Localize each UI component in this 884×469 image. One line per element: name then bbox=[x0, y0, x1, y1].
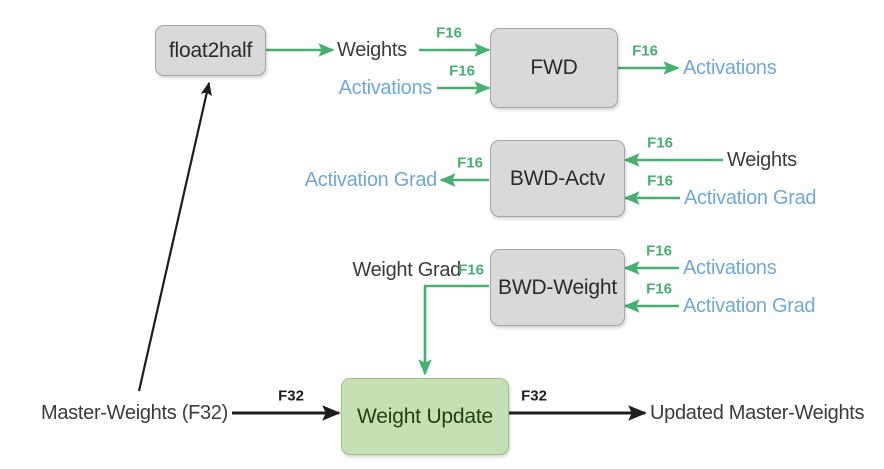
node-fwd-label: FWD bbox=[530, 56, 577, 79]
label-activations-fwd-in: Activations bbox=[339, 78, 432, 98]
tag-f16-activationgrad-to-bwdweight: F16 bbox=[646, 282, 672, 297]
label-activations-fwd-out: Activations bbox=[683, 58, 776, 78]
label-master-weights-in: Master-Weights (F32) bbox=[41, 403, 228, 423]
tag-f16-activations-to-fwd: F16 bbox=[449, 64, 475, 79]
node-bwd-weight[interactable]: BWD-Weight bbox=[490, 249, 625, 326]
node-weight-update-label: Weight Update bbox=[357, 405, 493, 428]
node-bwd-weight-label: BWD-Weight bbox=[498, 276, 617, 299]
tag-f16-bwdactv-to-activationgrad: F16 bbox=[457, 156, 483, 171]
tag-f32-masterweights-to-weightupdate: F32 bbox=[278, 389, 304, 404]
diagram-canvas: float2half FWD BWD-Actv BWD-Weight Weigh… bbox=[0, 0, 884, 469]
label-activation-grad-bwdw-in: Activation Grad bbox=[683, 296, 815, 316]
label-weights-bwd-in: Weights bbox=[727, 150, 797, 170]
node-float2half-label: float2half bbox=[169, 39, 252, 62]
tag-f16-activations-to-bwdweight: F16 bbox=[646, 244, 672, 259]
label-activation-grad-out: Activation Grad bbox=[305, 170, 437, 190]
node-weight-update[interactable]: Weight Update bbox=[341, 378, 509, 455]
node-bwd-actv[interactable]: BWD-Actv bbox=[490, 140, 625, 217]
label-activations-bwdw-in: Activations bbox=[683, 258, 776, 278]
label-updated-master-weights-out: Updated Master-Weights bbox=[650, 403, 864, 423]
node-bwd-actv-label: BWD-Actv bbox=[510, 167, 605, 190]
tag-f16-weights-to-bwdactv: F16 bbox=[647, 136, 673, 151]
black-diagonal-edge-group bbox=[139, 83, 209, 391]
label-weight-grad-out: Weight Grad bbox=[352, 260, 461, 280]
node-float2half[interactable]: float2half bbox=[155, 25, 266, 76]
label-weights-fwd-in: Weights bbox=[337, 40, 407, 60]
edge-bwdweight-to-weightupdate bbox=[425, 286, 489, 374]
label-activation-grad-bwd-in: Activation Grad bbox=[684, 188, 816, 208]
node-fwd[interactable]: FWD bbox=[490, 28, 618, 108]
tag-f32-weightupdate-to-updatedmaster: F32 bbox=[521, 389, 547, 404]
edge-masterweights-to-float2half bbox=[139, 83, 209, 391]
tag-f16-weights-to-fwd: F16 bbox=[436, 26, 462, 41]
tag-f16-fwd-to-activations: F16 bbox=[632, 44, 658, 59]
tag-f16-activationgrad-to-bwdactv: F16 bbox=[647, 174, 673, 189]
tag-f16-bwdweight-to-weightupdate: F16 bbox=[458, 263, 484, 278]
